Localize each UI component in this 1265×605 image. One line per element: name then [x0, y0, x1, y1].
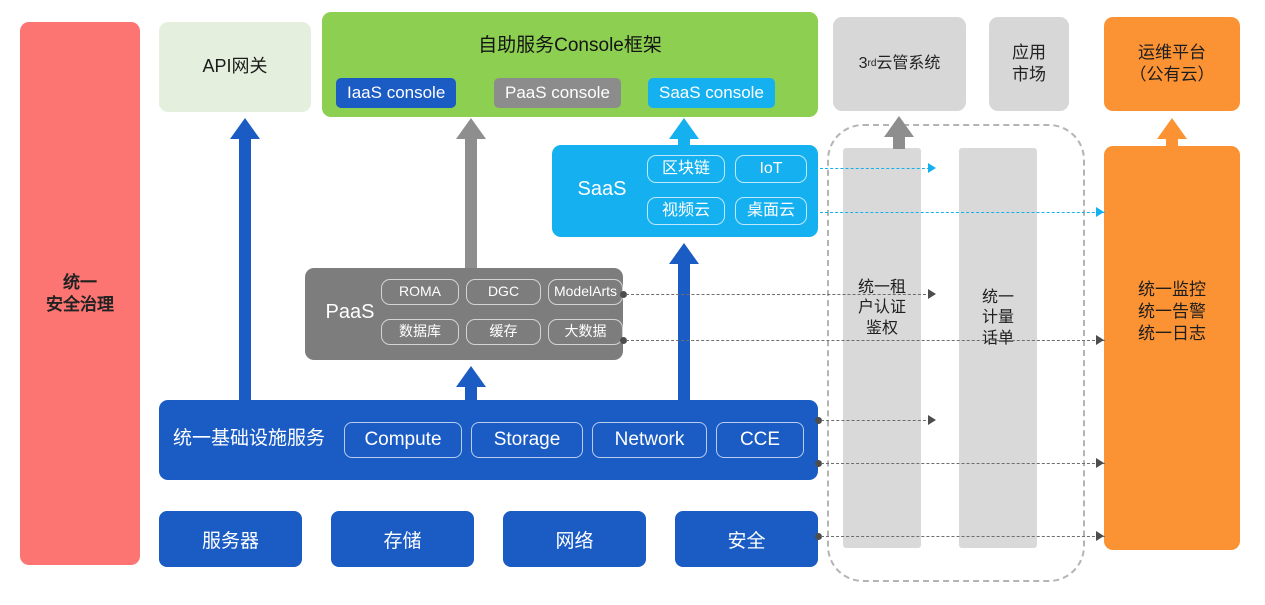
connector-hardware-to-ops [821, 536, 1105, 537]
paas-service-label: ROMA [399, 283, 441, 301]
infra-service-cce[interactable]: CCE [716, 422, 804, 458]
connector-saas-to-ops [820, 212, 1105, 213]
paas-service-roma[interactable]: ROMA [381, 279, 459, 305]
ops-platform-box: 运维平台 （公有云） [1104, 17, 1240, 111]
paas-service-modelarts[interactable]: ModelArts [548, 279, 623, 305]
arrow-paas-to-console-icon [455, 118, 487, 268]
hardware-network-box[interactable]: 网络 [503, 511, 646, 567]
connector-arrowhead-icon [928, 415, 936, 425]
ops-platform-label: 运维平台 （公有云） [1130, 42, 1215, 86]
unified-tenant-auth-column: 统一租 户认证 鉴权 [843, 148, 921, 548]
hardware-storage-box[interactable]: 存储 [331, 511, 474, 567]
ops-capabilities-panel: 统一监控 统一告警 统一日志 [1104, 146, 1240, 550]
hardware-security-box[interactable]: 安全 [675, 511, 818, 567]
security-governance-label: 统一 安全治理 [46, 272, 114, 316]
arrow-infra-to-saas-icon [668, 243, 700, 402]
paas-service-cache[interactable]: 缓存 [466, 319, 541, 345]
arrow-saas-to-console-icon [668, 118, 700, 145]
arrow-ops-body-to-ops-top-icon [1156, 118, 1188, 148]
console-framework-box: 自助服务Console框架 IaaS console PaaS console … [322, 12, 818, 117]
saas-service-label: 区块链 [662, 159, 710, 179]
infra-service-label: CCE [740, 428, 780, 452]
infra-service-storage[interactable]: Storage [471, 422, 583, 458]
connector-arrowhead-icon [928, 163, 936, 173]
connector-saas-to-auth [820, 168, 930, 169]
paas-layer-label: PaaS [311, 300, 389, 326]
paas-service-label: 大数据 [565, 323, 607, 341]
paas-console-label: PaaS console [505, 82, 610, 104]
security-governance-panel: 统一 安全治理 [20, 22, 140, 565]
api-gateway-box: API网关 [159, 22, 311, 112]
connector-paas-to-auth [626, 294, 931, 295]
architecture-diagram: 统一 安全治理 API网关 自助服务Console框架 IaaS console… [0, 0, 1265, 605]
connector-arrowhead-icon [1096, 531, 1104, 541]
saas-layer-box: SaaS 区块链 IoT 视频云 桌面云 [552, 145, 818, 237]
api-gateway-label: API网关 [202, 55, 267, 78]
saas-service-blockchain[interactable]: 区块链 [647, 155, 725, 183]
connector-infra-to-auth [821, 420, 931, 421]
unified-tenant-auth-label: 统一租 户认证 鉴权 [858, 278, 906, 339]
iaas-console-label: IaaS console [347, 82, 445, 104]
connector-paas-to-ops [626, 340, 1105, 341]
app-market-box: 应用 市场 [989, 17, 1069, 111]
infra-service-label: Network [615, 428, 685, 452]
saas-service-label: 桌面云 [747, 201, 795, 221]
hardware-label: 服务器 [202, 526, 259, 553]
saas-console-chip[interactable]: SaaS console [648, 78, 775, 108]
paas-service-bigdata[interactable]: 大数据 [548, 319, 623, 345]
saas-service-label: 视频云 [662, 201, 710, 221]
unified-infrastructure-bar: 统一基础设施服务 Compute Storage Network CCE [159, 400, 818, 480]
connector-infra-to-ops [821, 463, 1105, 464]
unified-infrastructure-label: 统一基础设施服务 [173, 427, 325, 451]
third-party-label: 云管系统 [876, 54, 940, 74]
ops-capabilities-label: 统一监控 统一告警 统一日志 [1138, 279, 1206, 344]
hardware-label: 网络 [555, 526, 593, 553]
unified-metering-billing-column: 统一 计量 话单 [959, 148, 1037, 548]
hardware-label: 存储 [383, 526, 421, 553]
connector-arrowhead-icon [1096, 458, 1104, 468]
arrow-infra-to-api-gateway-icon [229, 118, 261, 400]
third-party-prefix: 3 [859, 54, 868, 74]
paas-service-label: 数据库 [399, 323, 441, 341]
paas-console-chip[interactable]: PaaS console [494, 78, 621, 108]
saas-layer-label: SaaS [562, 177, 642, 203]
iaas-console-chip[interactable]: IaaS console [336, 78, 456, 108]
paas-service-database[interactable]: 数据库 [381, 319, 459, 345]
paas-service-dgc[interactable]: DGC [466, 279, 541, 305]
app-market-label: 应用 市场 [1012, 42, 1046, 86]
paas-service-label: 缓存 [490, 323, 518, 341]
arrow-infra-to-paas-icon [455, 366, 487, 402]
infra-service-label: Compute [364, 428, 441, 452]
infra-service-network[interactable]: Network [592, 422, 707, 458]
saas-console-label: SaaS console [659, 82, 764, 104]
hardware-label: 安全 [727, 526, 765, 553]
connector-arrowhead-icon [928, 289, 936, 299]
saas-service-video-cloud[interactable]: 视频云 [647, 197, 725, 225]
arrow-platform-to-third-party-icon [883, 116, 915, 149]
hardware-server-box[interactable]: 服务器 [159, 511, 302, 567]
saas-service-label: IoT [759, 159, 782, 179]
third-party-cloud-mgmt-box: 3rd云管系统 [833, 17, 966, 111]
saas-service-desktop-cloud[interactable]: 桌面云 [735, 197, 807, 225]
paas-service-label: ModelArts [554, 283, 617, 301]
connector-arrowhead-icon [1096, 335, 1104, 345]
console-framework-title: 自助服务Console框架 [322, 34, 818, 58]
connector-arrowhead-icon [1096, 207, 1104, 217]
saas-service-iot[interactable]: IoT [735, 155, 807, 183]
paas-service-label: DGC [488, 283, 519, 301]
infra-service-label: Storage [494, 428, 561, 452]
third-party-superscript: rd [867, 58, 876, 71]
infra-service-compute[interactable]: Compute [344, 422, 462, 458]
paas-layer-box: PaaS ROMA DGC ModelArts 数据库 缓存 大数据 [305, 268, 623, 360]
